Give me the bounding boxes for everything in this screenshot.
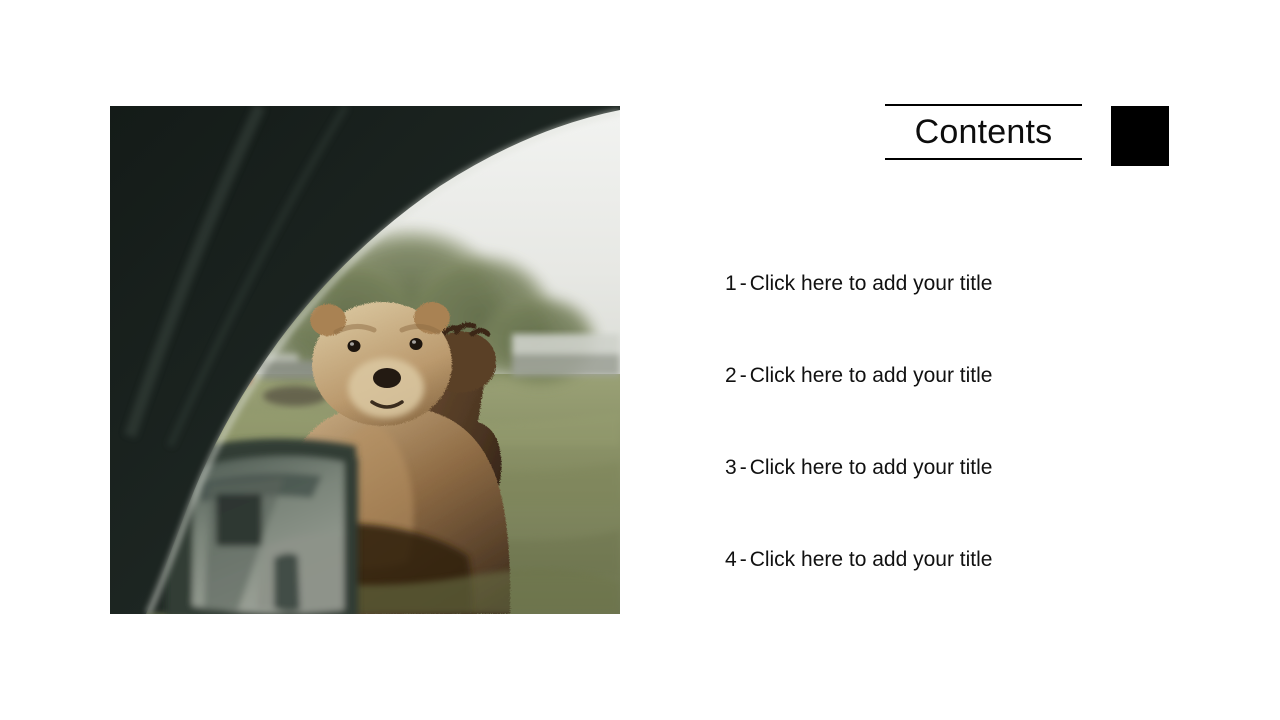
list-item-number: 4 [725, 548, 737, 571]
list-item-separator: - [737, 272, 750, 295]
list-item-number: 2 [725, 364, 737, 387]
hero-photo-illustration [110, 106, 620, 614]
slide-root: Contents 1-Click here to add your title … [0, 0, 1280, 720]
header-bottom-rule [885, 158, 1082, 160]
accent-square [1111, 106, 1169, 166]
list-item-separator: - [737, 364, 750, 387]
list-item-separator: - [737, 548, 750, 571]
list-item-label: Click here to add your title [750, 548, 993, 571]
page-title: Contents [885, 106, 1082, 158]
list-item-number: 3 [725, 456, 737, 479]
list-item[interactable]: 4-Click here to add your title [725, 544, 1245, 636]
list-item-number: 1 [725, 272, 737, 295]
list-item-label: Click here to add your title [750, 456, 993, 479]
contents-panel: Contents 1-Click here to add your title … [640, 0, 1280, 720]
list-item[interactable]: 1-Click here to add your title [725, 268, 1245, 360]
contents-list: 1-Click here to add your title 2-Click h… [725, 268, 1245, 636]
list-item-separator: - [737, 456, 750, 479]
list-item[interactable]: 3-Click here to add your title [725, 452, 1245, 544]
list-item-label: Click here to add your title [750, 272, 993, 295]
list-item-label: Click here to add your title [750, 364, 993, 387]
list-item[interactable]: 2-Click here to add your title [725, 360, 1245, 452]
hero-photo [110, 106, 620, 614]
contents-header: Contents [885, 104, 1082, 160]
